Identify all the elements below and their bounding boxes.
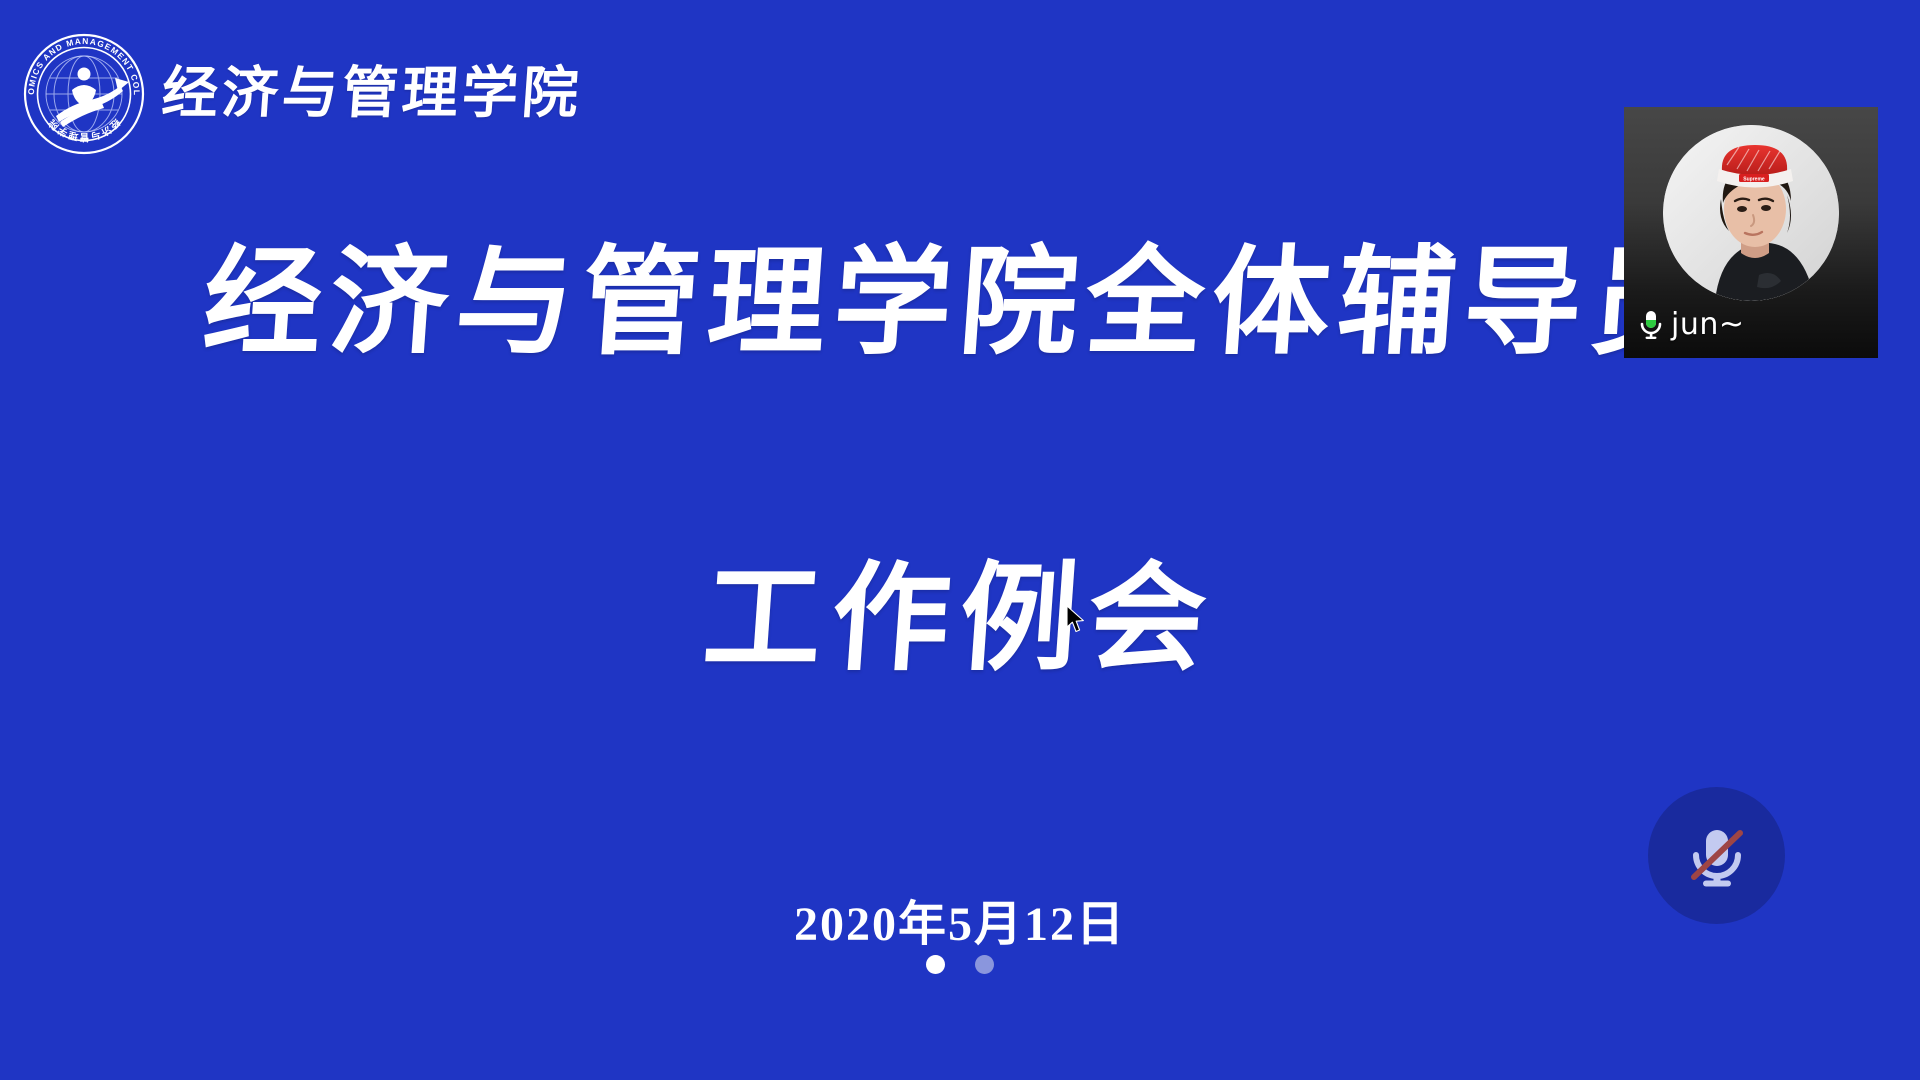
- participant-name-badge: jun~: [1636, 308, 1745, 342]
- svg-text:经济与管理学院: 经济与管理学院: [45, 116, 122, 143]
- participant-name: jun~: [1671, 310, 1745, 340]
- slide-pagination[interactable]: [0, 955, 1920, 974]
- microphone-icon: [1636, 308, 1666, 342]
- pagination-dot-1[interactable]: [926, 955, 945, 974]
- college-name-heading: 经济与管理学院: [160, 66, 584, 122]
- participant-avatar: Supreme: [1663, 125, 1839, 301]
- slide-date: 2020年5月12日: [0, 884, 1920, 954]
- meeting-screen-share-stage: ECONOMICS AND MANAGEMENT COLLEGE 经济与管理学院…: [0, 0, 1920, 1080]
- participant-video-tile[interactable]: Supreme jun~: [1624, 107, 1878, 358]
- emblem-ring-text-cn: 经济与管理学院: [45, 116, 122, 143]
- economics-management-college-emblem-icon: ECONOMICS AND MANAGEMENT COLLEGE 经济与管理学院: [22, 32, 146, 156]
- microphone-muted-icon: [1678, 817, 1756, 895]
- svg-text:Supreme: Supreme: [1743, 176, 1765, 182]
- pagination-dot-2[interactable]: [975, 955, 994, 974]
- mute-toggle-button[interactable]: [1648, 787, 1785, 924]
- slide-header: ECONOMICS AND MANAGEMENT COLLEGE 经济与管理学院…: [22, 32, 582, 156]
- slide-title-line-2: 工作例会: [0, 552, 1920, 684]
